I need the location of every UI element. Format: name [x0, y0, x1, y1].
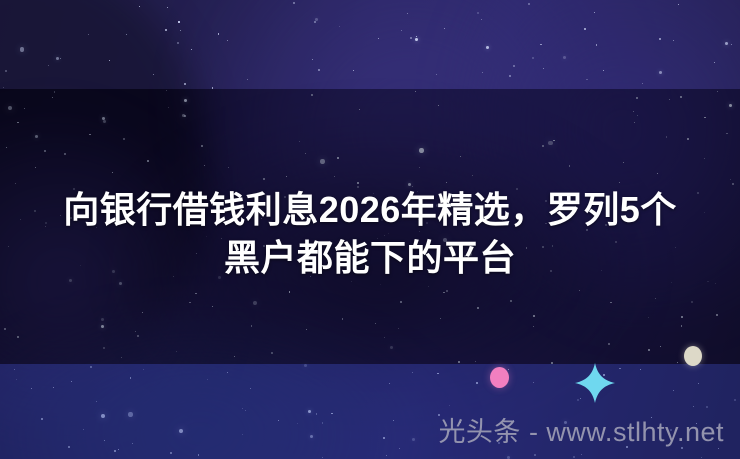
- watermark-text: 光头条 - www.stlhty.net: [0, 410, 740, 449]
- tone-band-top: [0, 0, 740, 89]
- poster-title: 向银行借钱利息2026年精选，罗列5个 黑户都能下的平台: [0, 186, 740, 282]
- moon-icon: [684, 346, 702, 366]
- sparkle-icon: [574, 362, 616, 404]
- pink-dot-icon: [490, 367, 509, 388]
- poster-image: 向银行借钱利息2026年精选，罗列5个 黑户都能下的平台 光头条 - www.s…: [0, 0, 740, 459]
